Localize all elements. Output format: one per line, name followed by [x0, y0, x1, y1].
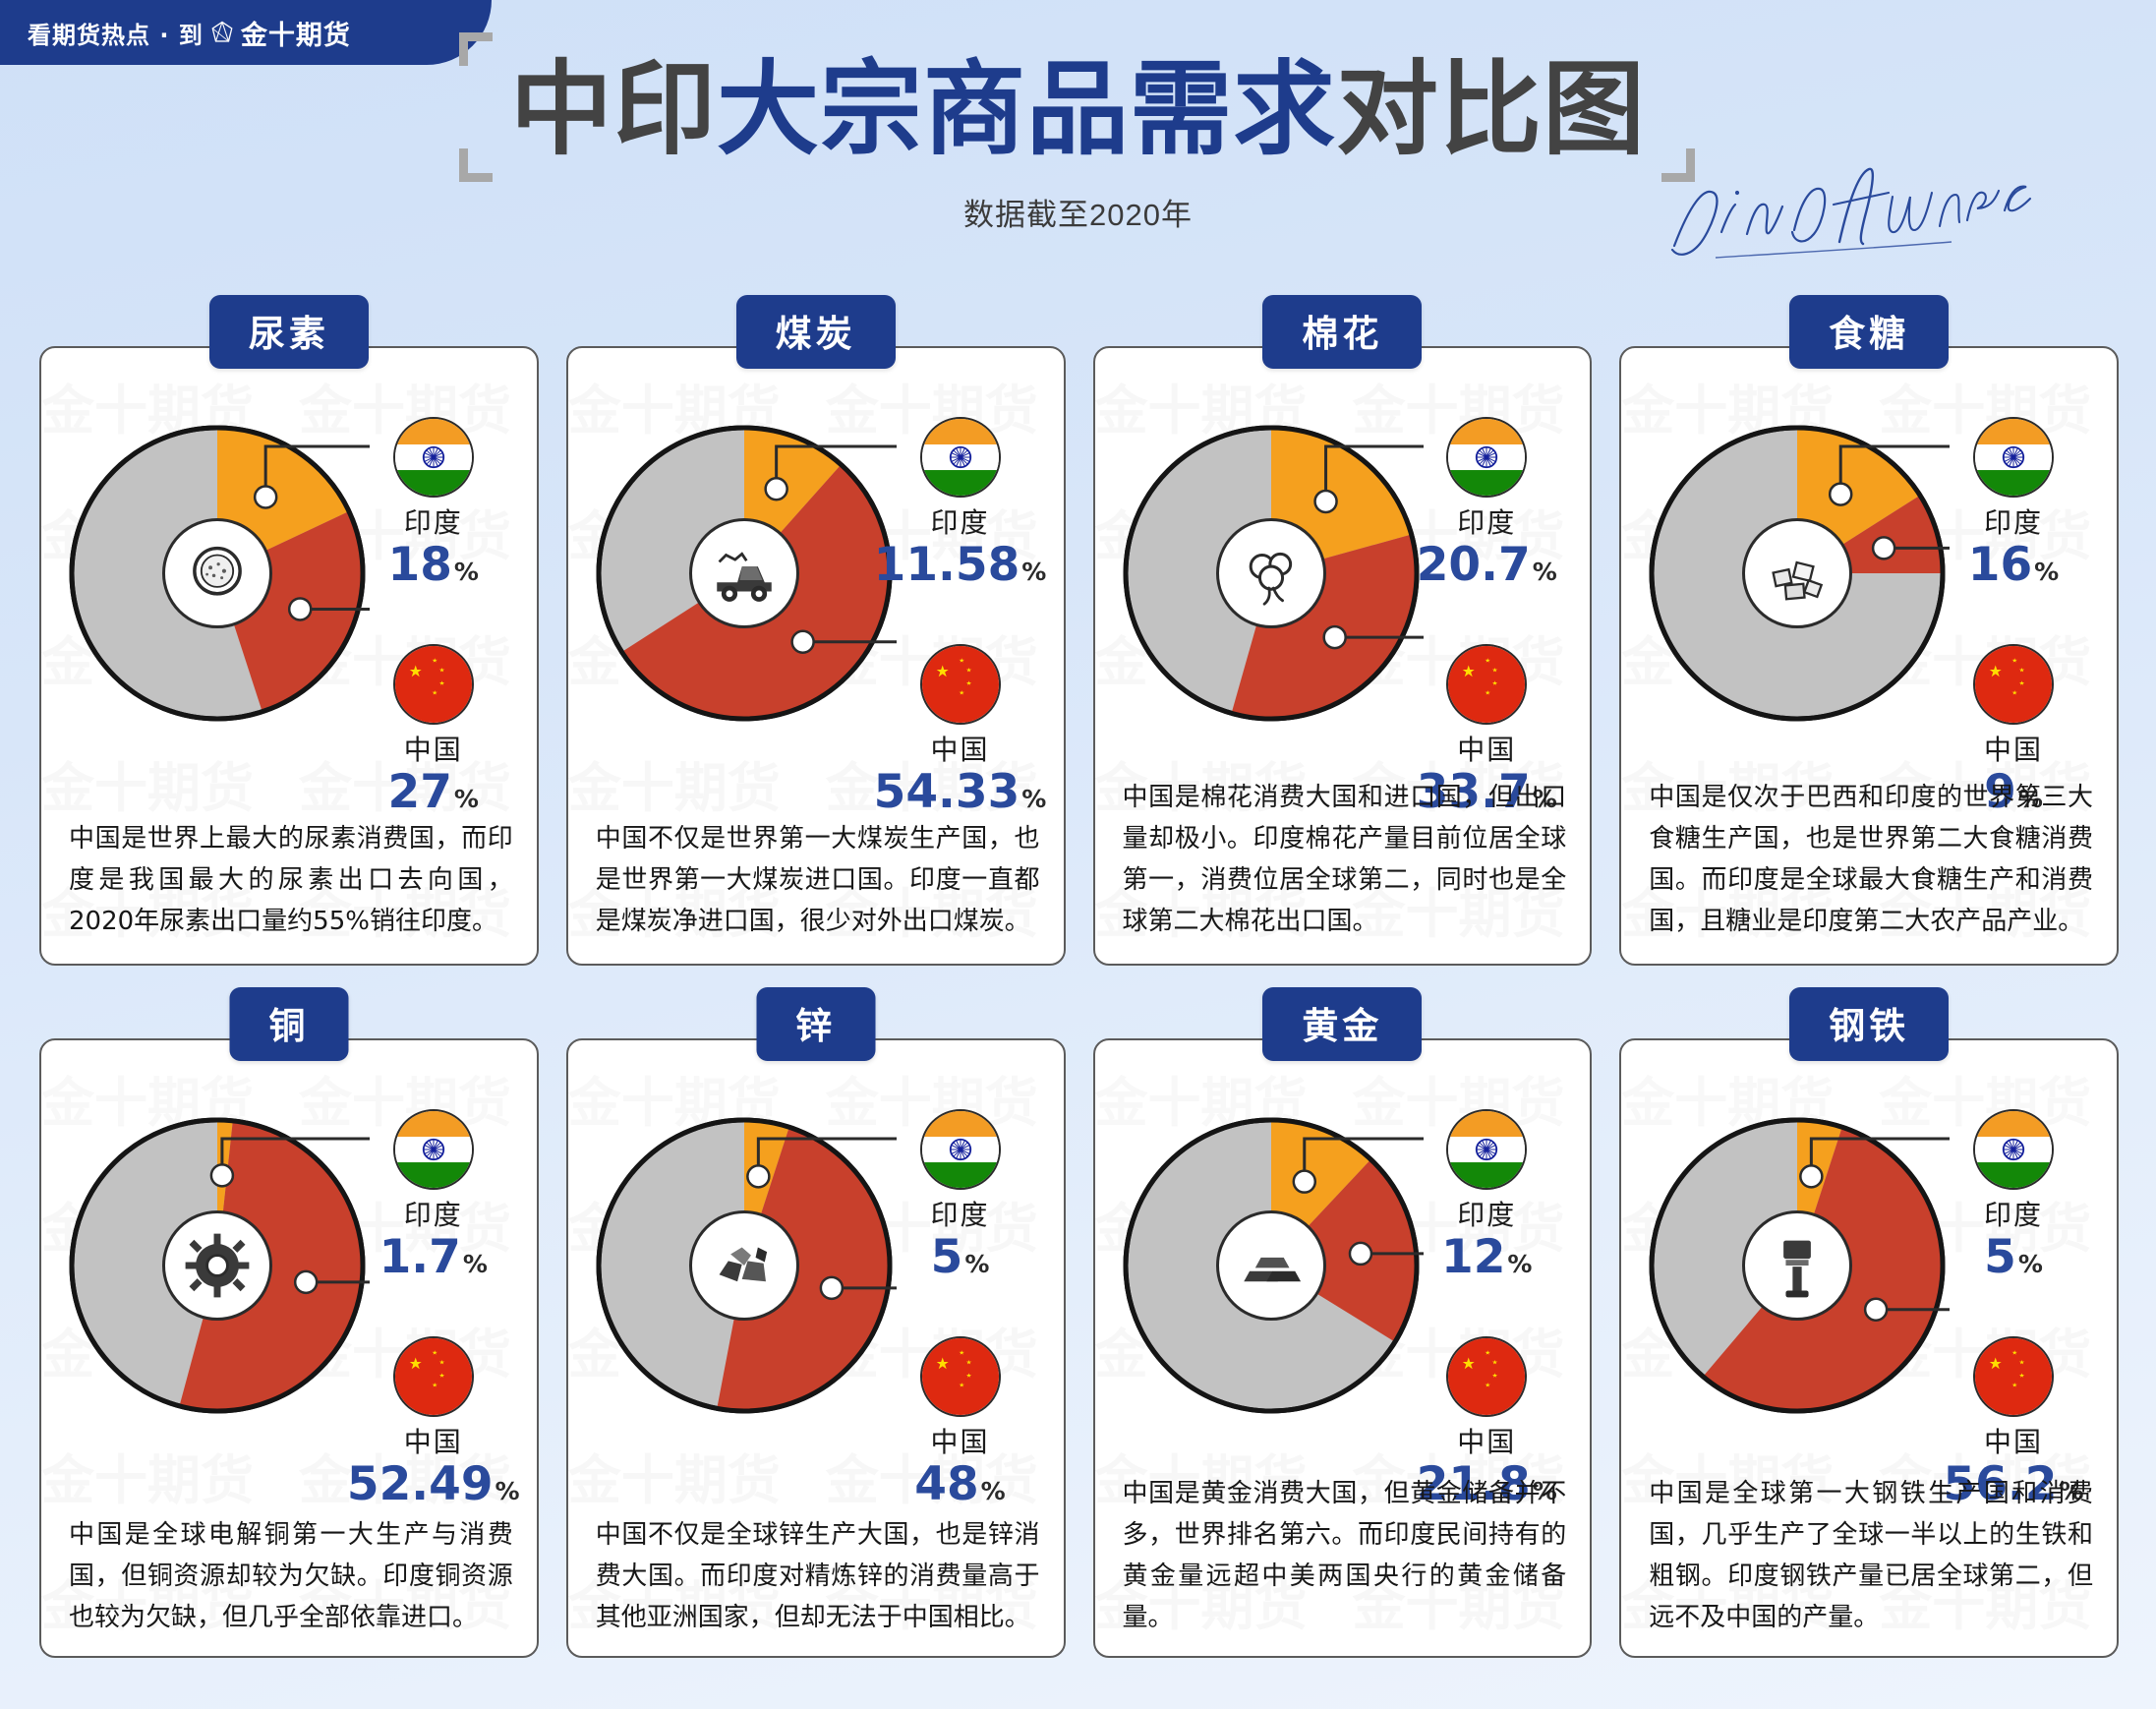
callout-dot-india	[765, 478, 787, 500]
callout-dot-china	[1873, 537, 1894, 559]
pie-chart	[1645, 421, 1950, 726]
india-percent-value: 5	[931, 1230, 963, 1284]
percent-symbol: %	[1507, 1250, 1532, 1278]
india-percent: 20.7%	[1399, 540, 1574, 591]
india-percent: 16%	[1926, 540, 2101, 591]
callout-dot-india	[255, 487, 276, 508]
commodity-card: 铜金十期货金十期货金十期货金十期货金十期货金十期货金十期货金十期货金十期货金十期…	[39, 987, 539, 1658]
brand-name: 金十期货	[241, 14, 351, 52]
india-label: 印度	[1926, 505, 2101, 540]
pie-chart	[65, 1113, 370, 1418]
pie-chart	[592, 1113, 897, 1418]
india-label: 印度	[873, 1198, 1048, 1232]
percent-symbol: %	[2034, 558, 2059, 586]
india-label: 印度	[1399, 505, 1574, 540]
india-flag-icon	[1446, 1109, 1527, 1190]
card-body: 金十期货金十期货金十期货金十期货金十期货金十期货金十期货金十期货金十期货金十期货…	[566, 1038, 1066, 1658]
commodity-title-chip[interactable]: 棉花	[1262, 295, 1422, 369]
india-flag-icon	[393, 417, 474, 498]
india-percent: 5%	[873, 1232, 1048, 1283]
india-label: 印度	[1399, 1198, 1574, 1232]
card-body: 金十期货金十期货金十期货金十期货金十期货金十期货金十期货金十期货金十期货金十期货…	[39, 1038, 539, 1658]
china-flag-icon	[1446, 644, 1527, 725]
commodity-card: 棉花金十期货金十期货金十期货金十期货金十期货金十期货金十期货金十期货金十期货金十…	[1093, 295, 1593, 966]
legend-india: 印度 20.7%	[1399, 417, 1574, 591]
card-body: 金十期货金十期货金十期货金十期货金十期货金十期货金十期货金十期货金十期货金十期货…	[1093, 346, 1593, 966]
card-body: 金十期货金十期货金十期货金十期货金十期货金十期货金十期货金十期货金十期货金十期货…	[1093, 1038, 1593, 1658]
china-label: 中国	[346, 1425, 521, 1459]
india-percent: 5%	[1926, 1232, 2101, 1283]
india-percent-value: 1.7	[379, 1230, 461, 1284]
china-percent: 27%	[346, 767, 521, 818]
china-flag-icon	[1446, 1336, 1527, 1417]
sugar-crystal-icon	[1761, 537, 1834, 610]
india-label: 印度	[346, 1198, 521, 1232]
china-label: 中国	[1399, 1425, 1574, 1459]
commodity-title-chip[interactable]: 铜	[229, 987, 348, 1061]
commodity-title-chip[interactable]: 煤炭	[736, 295, 896, 369]
commodity-title-chip[interactable]: 食糖	[1789, 295, 1949, 369]
commodity-description: 中国是仅次于巴西和印度的世界第三大食糖生产国，也是世界第二大食糖消费国。而印度是…	[1649, 777, 2093, 942]
corner-bracket-top-left	[459, 32, 493, 66]
subtitle: 数据截至2020年	[0, 190, 2156, 234]
callout-dot-china	[1349, 1243, 1370, 1265]
commodity-title-chip[interactable]: 黄金	[1262, 987, 1422, 1061]
card-body: 金十期货金十期货金十期货金十期货金十期货金十期货金十期货金十期货金十期货金十期货…	[1619, 346, 2119, 966]
percent-symbol: %	[1533, 558, 1557, 586]
brand-tagline: 看期货热点 · 到	[28, 16, 204, 50]
callout-dot-china	[295, 1271, 317, 1293]
legend: 印度 12% 中国 21.8%	[1399, 1109, 1574, 1535]
india-flag-icon	[1973, 1109, 2054, 1190]
commodity-card: 食糖金十期货金十期货金十期货金十期货金十期货金十期货金十期货金十期货金十期货金十…	[1619, 295, 2119, 966]
legend: 印度 5% 中国 48%	[873, 1109, 1048, 1535]
commodity-title-chip[interactable]: 尿素	[209, 295, 369, 369]
urea-bowl-icon	[181, 537, 254, 610]
commodity-description: 中国是全球电解铜第一大生产与消费国，但铜资源却较为欠缺。印度铜资源也较为欠缺，但…	[69, 1514, 513, 1638]
legend-india: 印度 11.58%	[873, 417, 1048, 591]
china-label: 中国	[346, 733, 521, 767]
commodity-card: 尿素金十期货金十期货金十期货金十期货金十期货金十期货金十期货金十期货金十期货金十…	[39, 295, 539, 966]
india-percent: 18%	[346, 540, 521, 591]
china-flag-icon	[920, 1336, 1001, 1417]
china-percent-value: 27	[388, 765, 452, 819]
china-label: 中国	[1399, 733, 1574, 767]
china-label: 中国	[873, 1425, 1048, 1459]
commodity-card: 黄金金十期货金十期货金十期货金十期货金十期货金十期货金十期货金十期货金十期货金十…	[1093, 987, 1593, 1658]
corner-bracket-bottom-left	[459, 148, 493, 182]
pie-chart	[65, 421, 370, 726]
commodity-description: 中国是棉花消费大国和进口国，但出口量却极小。印度棉花产量目前位居全球第一，消费位…	[1123, 777, 1567, 942]
percent-symbol: %	[463, 1250, 488, 1278]
legend-india: 印度 5%	[1926, 1109, 2101, 1283]
page-title: 中印大宗商品需求对比图	[510, 54, 1646, 164]
legend-india: 印度 1.7%	[346, 1109, 521, 1283]
card-body: 金十期货金十期货金十期货金十期货金十期货金十期货金十期货金十期货金十期货金十期货…	[566, 346, 1066, 966]
percent-symbol: %	[495, 1477, 520, 1505]
legend-china: 中国 48%	[873, 1336, 1048, 1510]
commodity-icon-hub	[1216, 518, 1326, 628]
percent-symbol: %	[1021, 558, 1046, 586]
india-percent-value: 18	[388, 538, 452, 592]
pie-chart	[592, 421, 897, 726]
india-percent-value: 11.58	[874, 538, 1020, 592]
title-part-gray-2: 对比图	[1336, 49, 1646, 169]
percent-symbol: %	[2018, 1250, 2043, 1278]
commodity-description: 中国不仅是全球锌生产大国，也是锌消费大国。而印度对精炼锌的消费量高于其他亚洲国家…	[596, 1514, 1040, 1638]
percent-symbol: %	[981, 1477, 1006, 1505]
legend: 印度 11.58% 中国 54.33%	[873, 417, 1048, 843]
legend-india: 印度 12%	[1399, 1109, 1574, 1283]
card-body: 金十期货金十期货金十期货金十期货金十期货金十期货金十期货金十期货金十期货金十期货…	[1619, 1038, 2119, 1658]
india-percent: 1.7%	[346, 1232, 521, 1283]
zinc-ore-icon	[708, 1229, 781, 1302]
china-percent: 52.49%	[346, 1459, 521, 1510]
callout-dot-china	[1865, 1299, 1887, 1321]
legend: 印度 1.7% 中国 52.49%	[346, 1109, 521, 1535]
callout-dot-india	[1314, 491, 1336, 512]
callout-dot-india	[1801, 1165, 1823, 1187]
percent-symbol: %	[454, 558, 479, 586]
callout-dot-china	[791, 631, 813, 653]
commodity-card: 钢铁金十期货金十期货金十期货金十期货金十期货金十期货金十期货金十期货金十期货金十…	[1619, 987, 2119, 1658]
india-percent: 12%	[1399, 1232, 1574, 1283]
india-flag-icon	[920, 417, 1001, 498]
legend: 印度 18% 中国 27%	[346, 417, 521, 843]
india-label: 印度	[873, 505, 1048, 540]
percent-symbol: %	[1021, 785, 1046, 813]
legend-india: 印度 16%	[1926, 417, 2101, 591]
coal-truck-icon	[708, 537, 781, 610]
china-percent: 48%	[873, 1459, 1048, 1510]
india-percent-value: 20.7	[1417, 538, 1531, 592]
pie-chart	[1119, 421, 1424, 726]
callout-dot-china	[289, 598, 311, 619]
china-label: 中国	[1926, 733, 2101, 767]
callout-dot-india	[747, 1165, 769, 1187]
commodity-icon-hub	[689, 1210, 799, 1321]
commodity-description: 中国是世界上最大的尿素消费国，而印度是我国最大的尿素出口去向国，2020年尿素出…	[69, 818, 513, 942]
callout-dot-india	[1293, 1171, 1314, 1193]
legend-india: 印度 5%	[873, 1109, 1048, 1283]
legend-china: 中国 27%	[346, 644, 521, 818]
cotton-icon	[1235, 537, 1308, 610]
legend-china: 中国 54.33%	[873, 644, 1048, 818]
india-flag-icon	[1446, 417, 1527, 498]
card-body: 金十期货金十期货金十期货金十期货金十期货金十期货金十期货金十期货金十期货金十期货…	[39, 346, 539, 966]
commodity-card: 锌金十期货金十期货金十期货金十期货金十期货金十期货金十期货金十期货金十期货金十期…	[566, 987, 1066, 1658]
china-label: 中国	[873, 733, 1048, 767]
gold-bars-icon	[1235, 1229, 1308, 1302]
copper-gear-icon	[181, 1229, 254, 1302]
india-percent-value: 16	[1968, 538, 2032, 592]
china-flag-icon	[393, 644, 474, 725]
china-percent-value: 48	[914, 1457, 978, 1511]
commodity-icon-hub	[1742, 518, 1852, 628]
callout-dot-china	[1323, 626, 1345, 648]
polyhedron-icon	[209, 20, 235, 45]
pie-chart	[1645, 1113, 1950, 1418]
callout-dot-china	[821, 1277, 843, 1299]
india-label: 印度	[346, 505, 521, 540]
china-percent-value: 52.49	[347, 1457, 494, 1511]
china-flag-icon	[1973, 1336, 2054, 1417]
commodity-description: 中国是黄金消费大国，但黄金储备并不多，世界排名第六。而印度民间持有的黄金量远超中…	[1123, 1473, 1567, 1638]
china-flag-icon	[393, 1336, 474, 1417]
pie-chart	[1119, 1113, 1424, 1418]
corner-bracket-bottom-right	[1661, 148, 1695, 182]
india-label: 印度	[1926, 1198, 2101, 1232]
percent-symbol: %	[964, 1250, 989, 1278]
percent-symbol: %	[454, 785, 479, 813]
india-percent: 11.58%	[873, 540, 1048, 591]
legend-china: 中国 52.49%	[346, 1336, 521, 1510]
commodity-icon-hub	[162, 1210, 272, 1321]
china-percent-value: 54.33	[874, 765, 1020, 819]
commodity-grid: 尿素金十期货金十期货金十期货金十期货金十期货金十期货金十期货金十期货金十期货金十…	[39, 295, 2119, 1658]
callout-dot-india	[211, 1164, 233, 1186]
title-part-blue: 大宗商品需求	[717, 49, 1336, 169]
commodity-card: 煤炭金十期货金十期货金十期货金十期货金十期货金十期货金十期货金十期货金十期货金十…	[566, 295, 1066, 966]
india-flag-icon	[393, 1109, 474, 1190]
china-label: 中国	[1926, 1425, 2101, 1459]
legend: 印度 5% 中国 56.2%	[1926, 1109, 2101, 1535]
india-percent-value: 12	[1441, 1230, 1505, 1284]
commodity-icon-hub	[689, 518, 799, 628]
india-percent-value: 5	[1984, 1230, 2016, 1284]
commodity-description: 中国是全球第一大钢铁生产国和消费国，几乎生产了全球一半以上的生铁和粗钢。印度钢铁…	[1649, 1473, 2093, 1638]
title-part-gray-1: 中印	[510, 49, 717, 169]
commodity-icon-hub	[162, 518, 272, 628]
india-flag-icon	[920, 1109, 1001, 1190]
callout-dot-india	[1830, 484, 1851, 505]
india-flag-icon	[1973, 417, 2054, 498]
commodity-icon-hub	[1742, 1210, 1852, 1321]
china-percent: 54.33%	[873, 767, 1048, 818]
china-flag-icon	[1973, 644, 2054, 725]
commodity-title-chip[interactable]: 钢铁	[1789, 987, 1949, 1061]
commodity-icon-hub	[1216, 1210, 1326, 1321]
steel-piston-icon	[1761, 1229, 1834, 1302]
commodity-title-chip[interactable]: 锌	[756, 987, 875, 1061]
headline-wrap: 中印大宗商品需求对比图 数据截至2020年	[0, 54, 2156, 234]
legend-india: 印度 18%	[346, 417, 521, 591]
commodity-description: 中国不仅是世界第一大煤炭生产国，也是世界第一大煤炭进口国。印度一直都是煤炭净进口…	[596, 818, 1040, 942]
china-flag-icon	[920, 644, 1001, 725]
